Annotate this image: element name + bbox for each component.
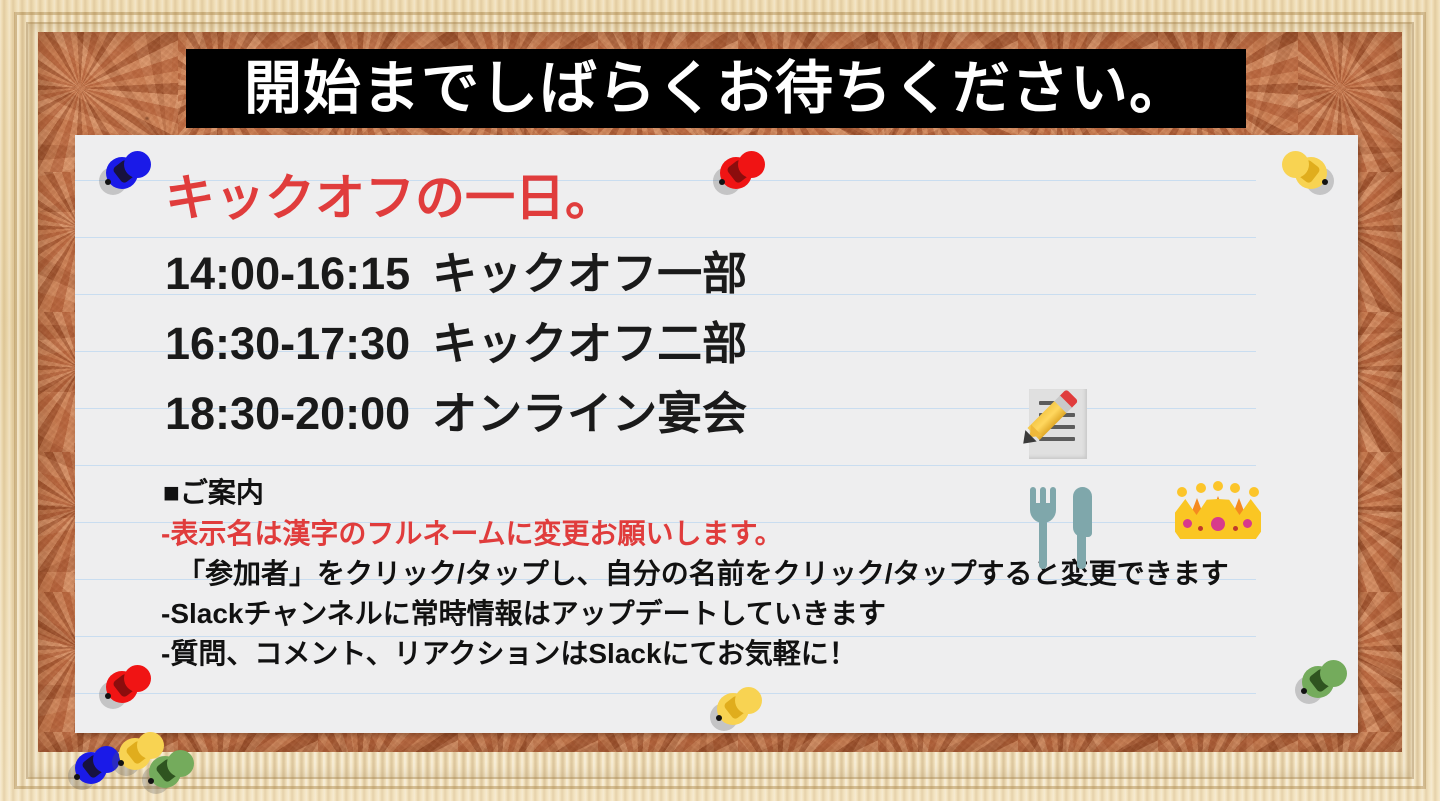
pushpin-needle xyxy=(105,693,111,699)
pushpin-blue-top-left[interactable] xyxy=(97,149,155,203)
pushpin-yellow-top-right[interactable] xyxy=(1278,149,1336,203)
notice-paper: キックオフの一日。 14:00-16:15キックオフ一部 16:30-17:30… xyxy=(75,135,1358,733)
note-line: -表示名は漢字のフルネームに変更お願いします。 xyxy=(161,520,783,548)
pushpin-knob xyxy=(167,750,194,777)
kickoff-heading: キックオフの一日。 xyxy=(165,173,615,223)
fork-handle xyxy=(1039,519,1047,569)
pushpin-knob xyxy=(124,151,151,178)
title-banner: 開始までしばらくお待ちください。 xyxy=(186,49,1246,128)
pushpin-red-top-center[interactable] xyxy=(711,149,769,203)
schedule-time: 16:30-17:30 xyxy=(165,318,410,369)
cork-board-wooden-frame: 開始までしばらくお待ちください。 キックオフの一日。 14:00-16:15キッ… xyxy=(0,0,1440,801)
schedule-row: 18:30-20:00オンライン宴会 xyxy=(165,391,747,436)
knife-shape xyxy=(1069,487,1099,569)
page-title: 開始までしばらくお待ちください。 xyxy=(244,60,1188,118)
crown-ball xyxy=(1213,481,1223,491)
schedule-time: 14:00-16:15 xyxy=(165,248,410,299)
memo-rule xyxy=(1039,437,1075,441)
crown-ball xyxy=(1196,483,1206,493)
crown-gem xyxy=(1211,517,1225,531)
schedule-row: 14:00-16:15キックオフ一部 xyxy=(165,251,747,296)
crown-gem xyxy=(1183,519,1192,528)
crown-dot xyxy=(1233,526,1238,531)
pushpin-knob xyxy=(1320,660,1347,687)
crown-gem xyxy=(1243,519,1252,528)
pushpin-needle xyxy=(118,760,124,766)
pushpin-knob xyxy=(738,151,765,178)
pushpin-green-frame[interactable] xyxy=(140,748,198,802)
pushpin-needle xyxy=(74,774,80,780)
knife-blade xyxy=(1073,487,1092,537)
pushpin-needle xyxy=(105,179,111,185)
crown-ball xyxy=(1249,487,1259,497)
note-line: -Slackチャンネルに常時情報はアップデートしていきます xyxy=(161,600,886,628)
pushpin-needle xyxy=(148,778,154,784)
note-line: -質問、コメント、リアクションはSlackにてお気軽に！ xyxy=(161,640,857,668)
pushpin-needle xyxy=(1301,688,1307,694)
knife-handle xyxy=(1077,531,1086,569)
fork-shape xyxy=(1029,487,1059,569)
pushpin-knob xyxy=(124,665,151,692)
pushpin-needle xyxy=(719,179,725,185)
notes-heading: ■ご案内 xyxy=(163,479,264,507)
crown-ball xyxy=(1177,487,1187,497)
fork-and-knife-emoji xyxy=(1025,487,1103,569)
crown-dot xyxy=(1198,526,1203,531)
schedule-row: 16:30-17:30キックオフ二部 xyxy=(165,321,747,366)
pushpin-red-bottom-left[interactable] xyxy=(97,663,155,717)
pushpin-green-bottom-right[interactable] xyxy=(1293,658,1351,712)
pushpin-knob xyxy=(735,687,762,714)
pushpin-yellow-bottom-center[interactable] xyxy=(708,685,766,733)
paper-content: キックオフの一日。 14:00-16:15キックオフ一部 16:30-17:30… xyxy=(75,135,1358,733)
schedule-label: オンライン宴会 xyxy=(432,388,747,439)
schedule-time: 18:30-20:00 xyxy=(165,388,410,439)
crown-ball xyxy=(1230,483,1240,493)
schedule-label: キックオフ一部 xyxy=(432,248,747,299)
pushpin-needle xyxy=(716,715,722,721)
schedule-label: キックオフ二部 xyxy=(432,318,747,369)
pushpin-needle xyxy=(1322,179,1328,185)
crown-emoji xyxy=(1173,481,1263,543)
pushpin-knob xyxy=(1282,151,1309,178)
memo-emoji xyxy=(1023,385,1097,463)
